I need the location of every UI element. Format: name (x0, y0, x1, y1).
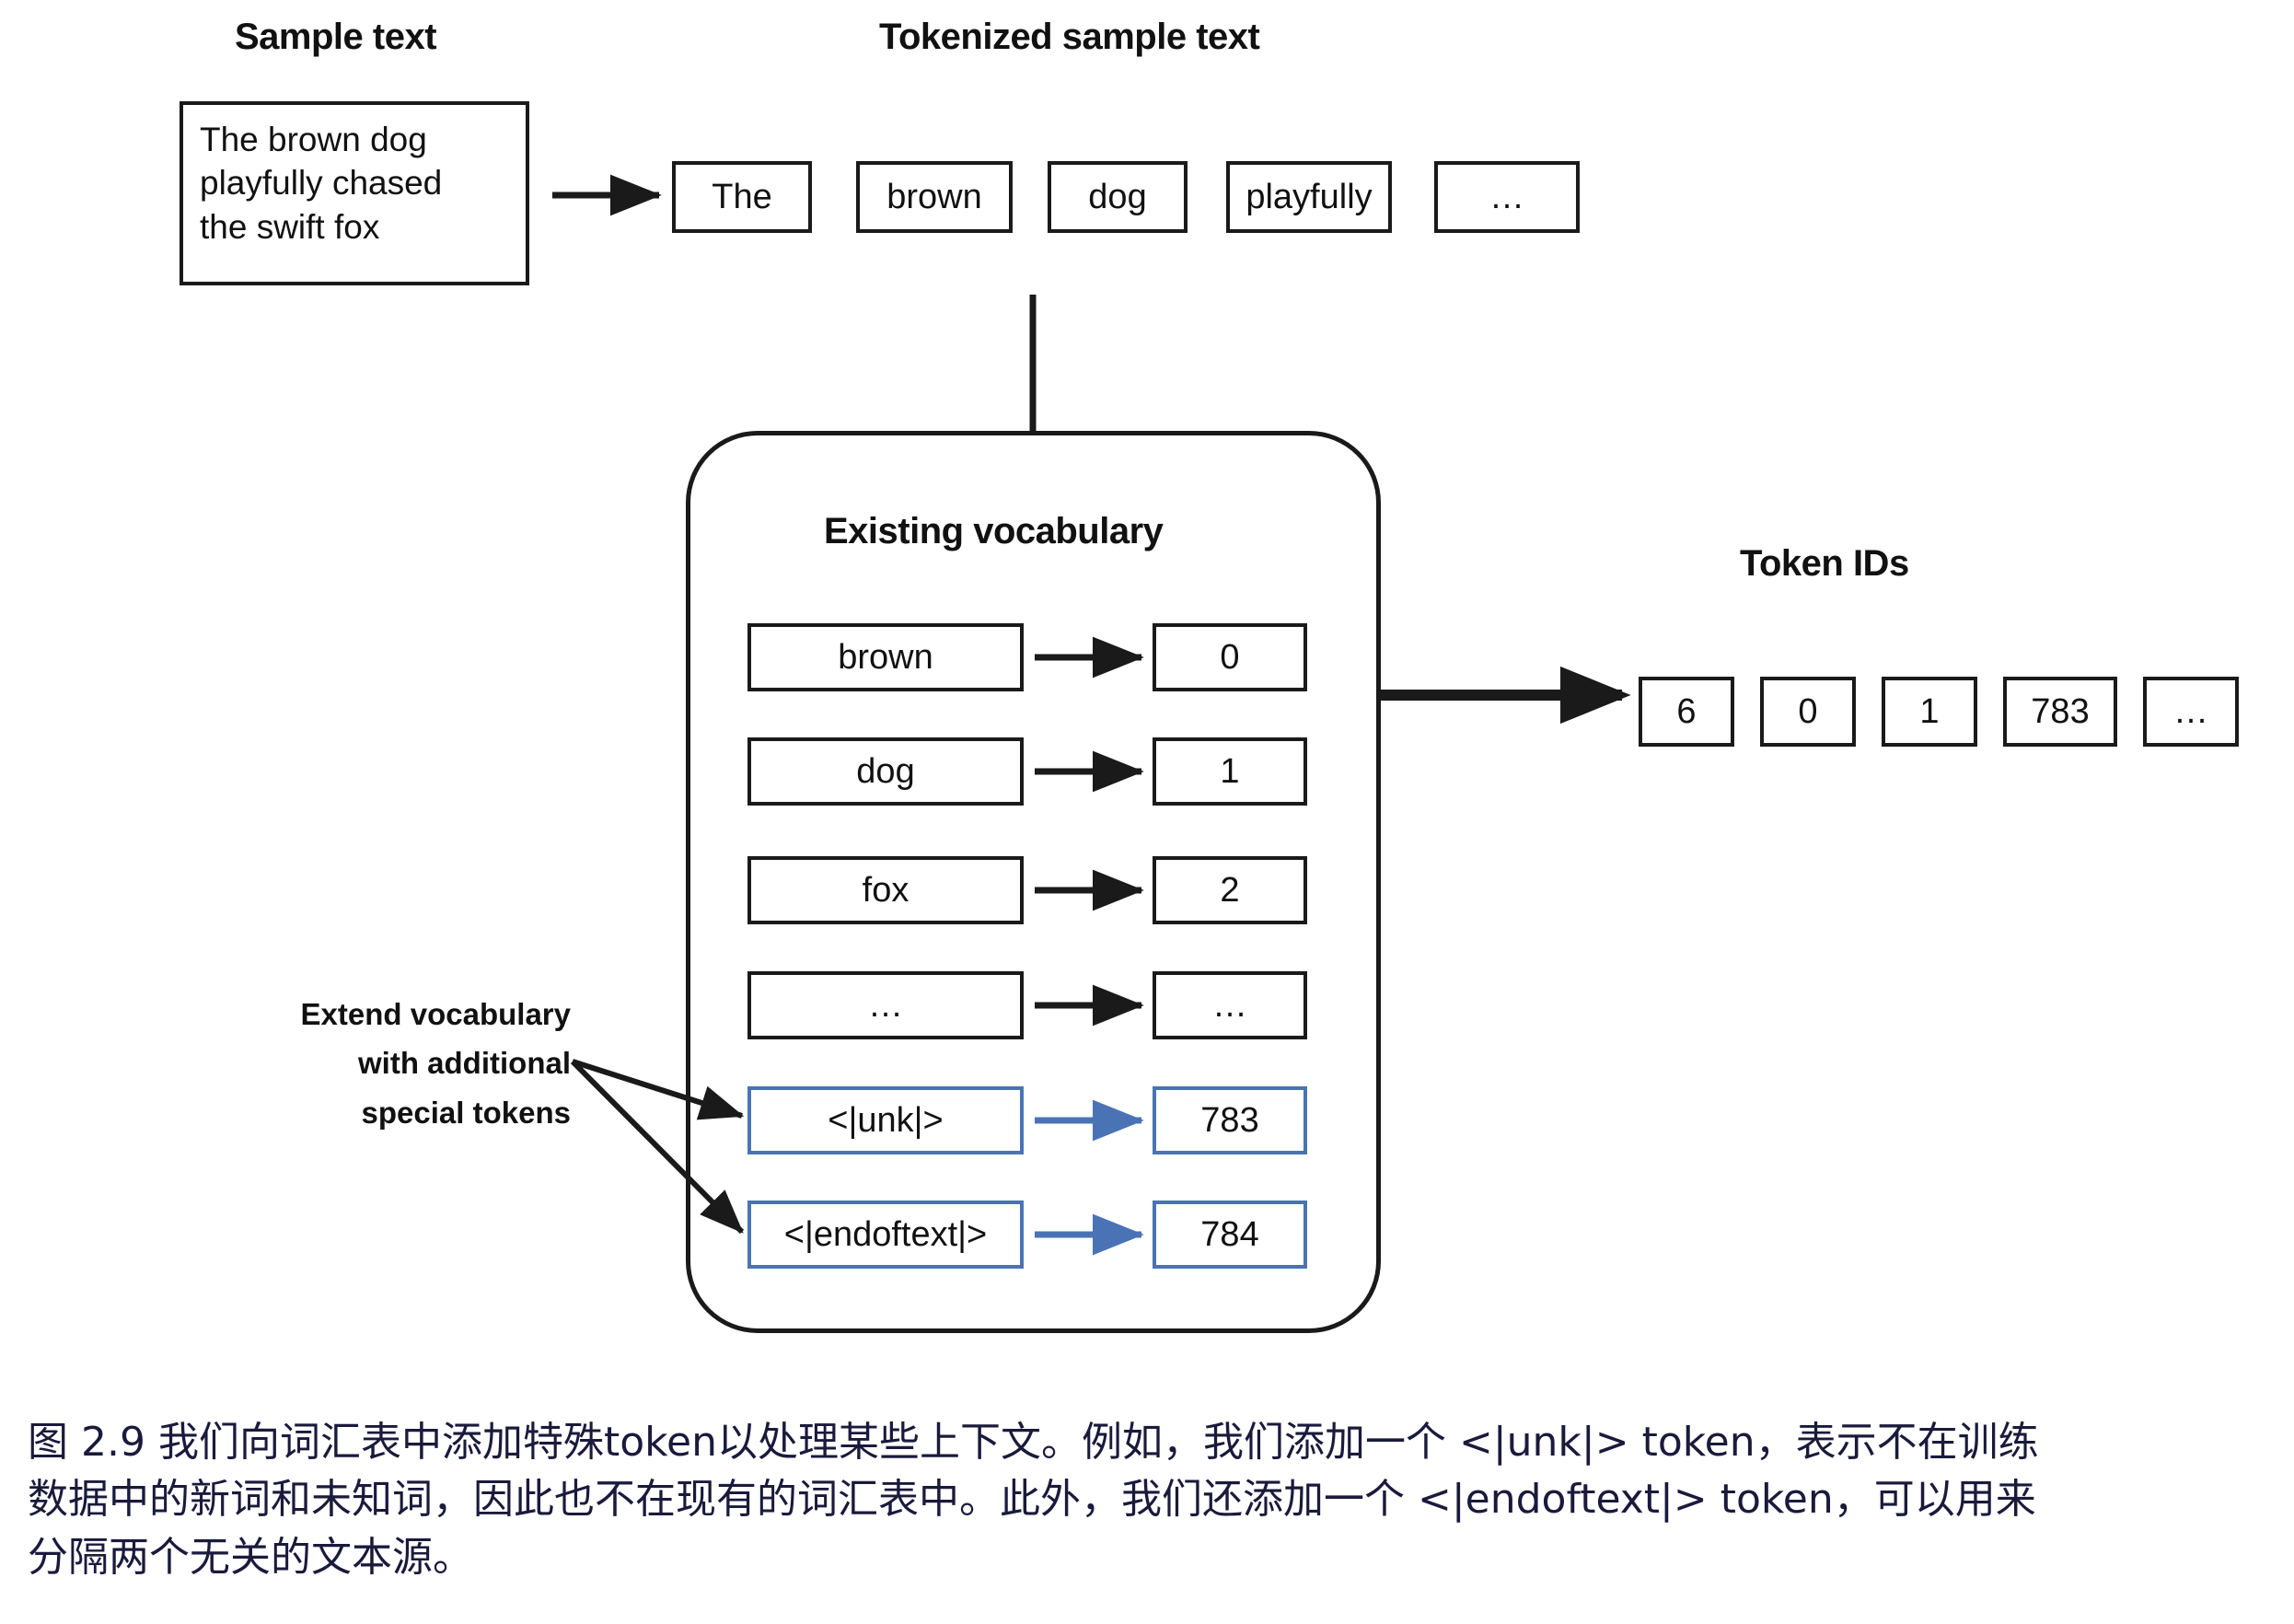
extend-vocabulary-annotation: Extend vocabulary with additional specia… (221, 990, 571, 1137)
token-box-ellipsis: … (1434, 161, 1580, 233)
token-box-playfully: playfully (1226, 161, 1392, 233)
vocab-word-endoftext: <|endoftext|> (747, 1201, 1024, 1269)
extend-note-line-3: special tokens (221, 1088, 571, 1137)
figure-canvas: Sample text Tokenized sample text Token … (0, 0, 2294, 1624)
token-id-box-783: 783 (2003, 677, 2117, 747)
sample-text-box: The brown dog playfully chased the swift… (180, 101, 529, 285)
token-box-the: The (672, 161, 812, 233)
vocab-id-ellipsis: … (1153, 971, 1307, 1039)
vocab-id-784: 784 (1153, 1201, 1307, 1269)
vocab-id-783: 783 (1153, 1086, 1307, 1154)
token-id-box-1: 1 (1882, 677, 1977, 747)
token-id-box-0: 0 (1760, 677, 1856, 747)
sample-text-line-2: playfully chased (200, 161, 511, 204)
vocab-word-dog: dog (747, 737, 1024, 806)
token-ids-heading: Token IDs (1740, 543, 1909, 585)
existing-vocabulary-heading: Existing vocabulary (824, 511, 1163, 552)
tokenized-sample-text-heading: Tokenized sample text (879, 17, 1259, 58)
extend-note-line-1: Extend vocabulary (221, 990, 571, 1038)
extend-note-line-2: with additional (221, 1038, 571, 1087)
caption-line-3: 分隔两个无关的文本源。 (28, 1529, 2274, 1586)
sample-text-line-1: The brown dog (200, 118, 511, 161)
vocab-id-2: 2 (1153, 856, 1307, 924)
vocab-word-fox: fox (747, 856, 1024, 924)
token-id-box-ellipsis: … (2143, 677, 2239, 747)
token-id-box-6: 6 (1639, 677, 1734, 747)
caption-line-2: 数据中的新词和未知词，因此也不在现有的词汇表中。此外，我们还添加一个 <|end… (28, 1471, 2274, 1528)
figure-caption: 图 2.9 我们向词汇表中添加特殊token以处理某些上下文。例如，我们添加一个… (28, 1414, 2274, 1586)
vocab-word-brown: brown (747, 623, 1024, 691)
token-box-brown: brown (856, 161, 1013, 233)
caption-line-1: 图 2.9 我们向词汇表中添加特殊token以处理某些上下文。例如，我们添加一个… (28, 1414, 2274, 1471)
sample-text-heading: Sample text (235, 17, 436, 58)
token-box-dog: dog (1048, 161, 1188, 233)
vocab-id-1: 1 (1153, 737, 1307, 806)
sample-text-line-3: the swift fox (200, 205, 511, 249)
vocab-word-ellipsis: … (747, 971, 1024, 1039)
vocab-id-0: 0 (1153, 623, 1307, 691)
vocab-word-unk: <|unk|> (747, 1086, 1024, 1154)
